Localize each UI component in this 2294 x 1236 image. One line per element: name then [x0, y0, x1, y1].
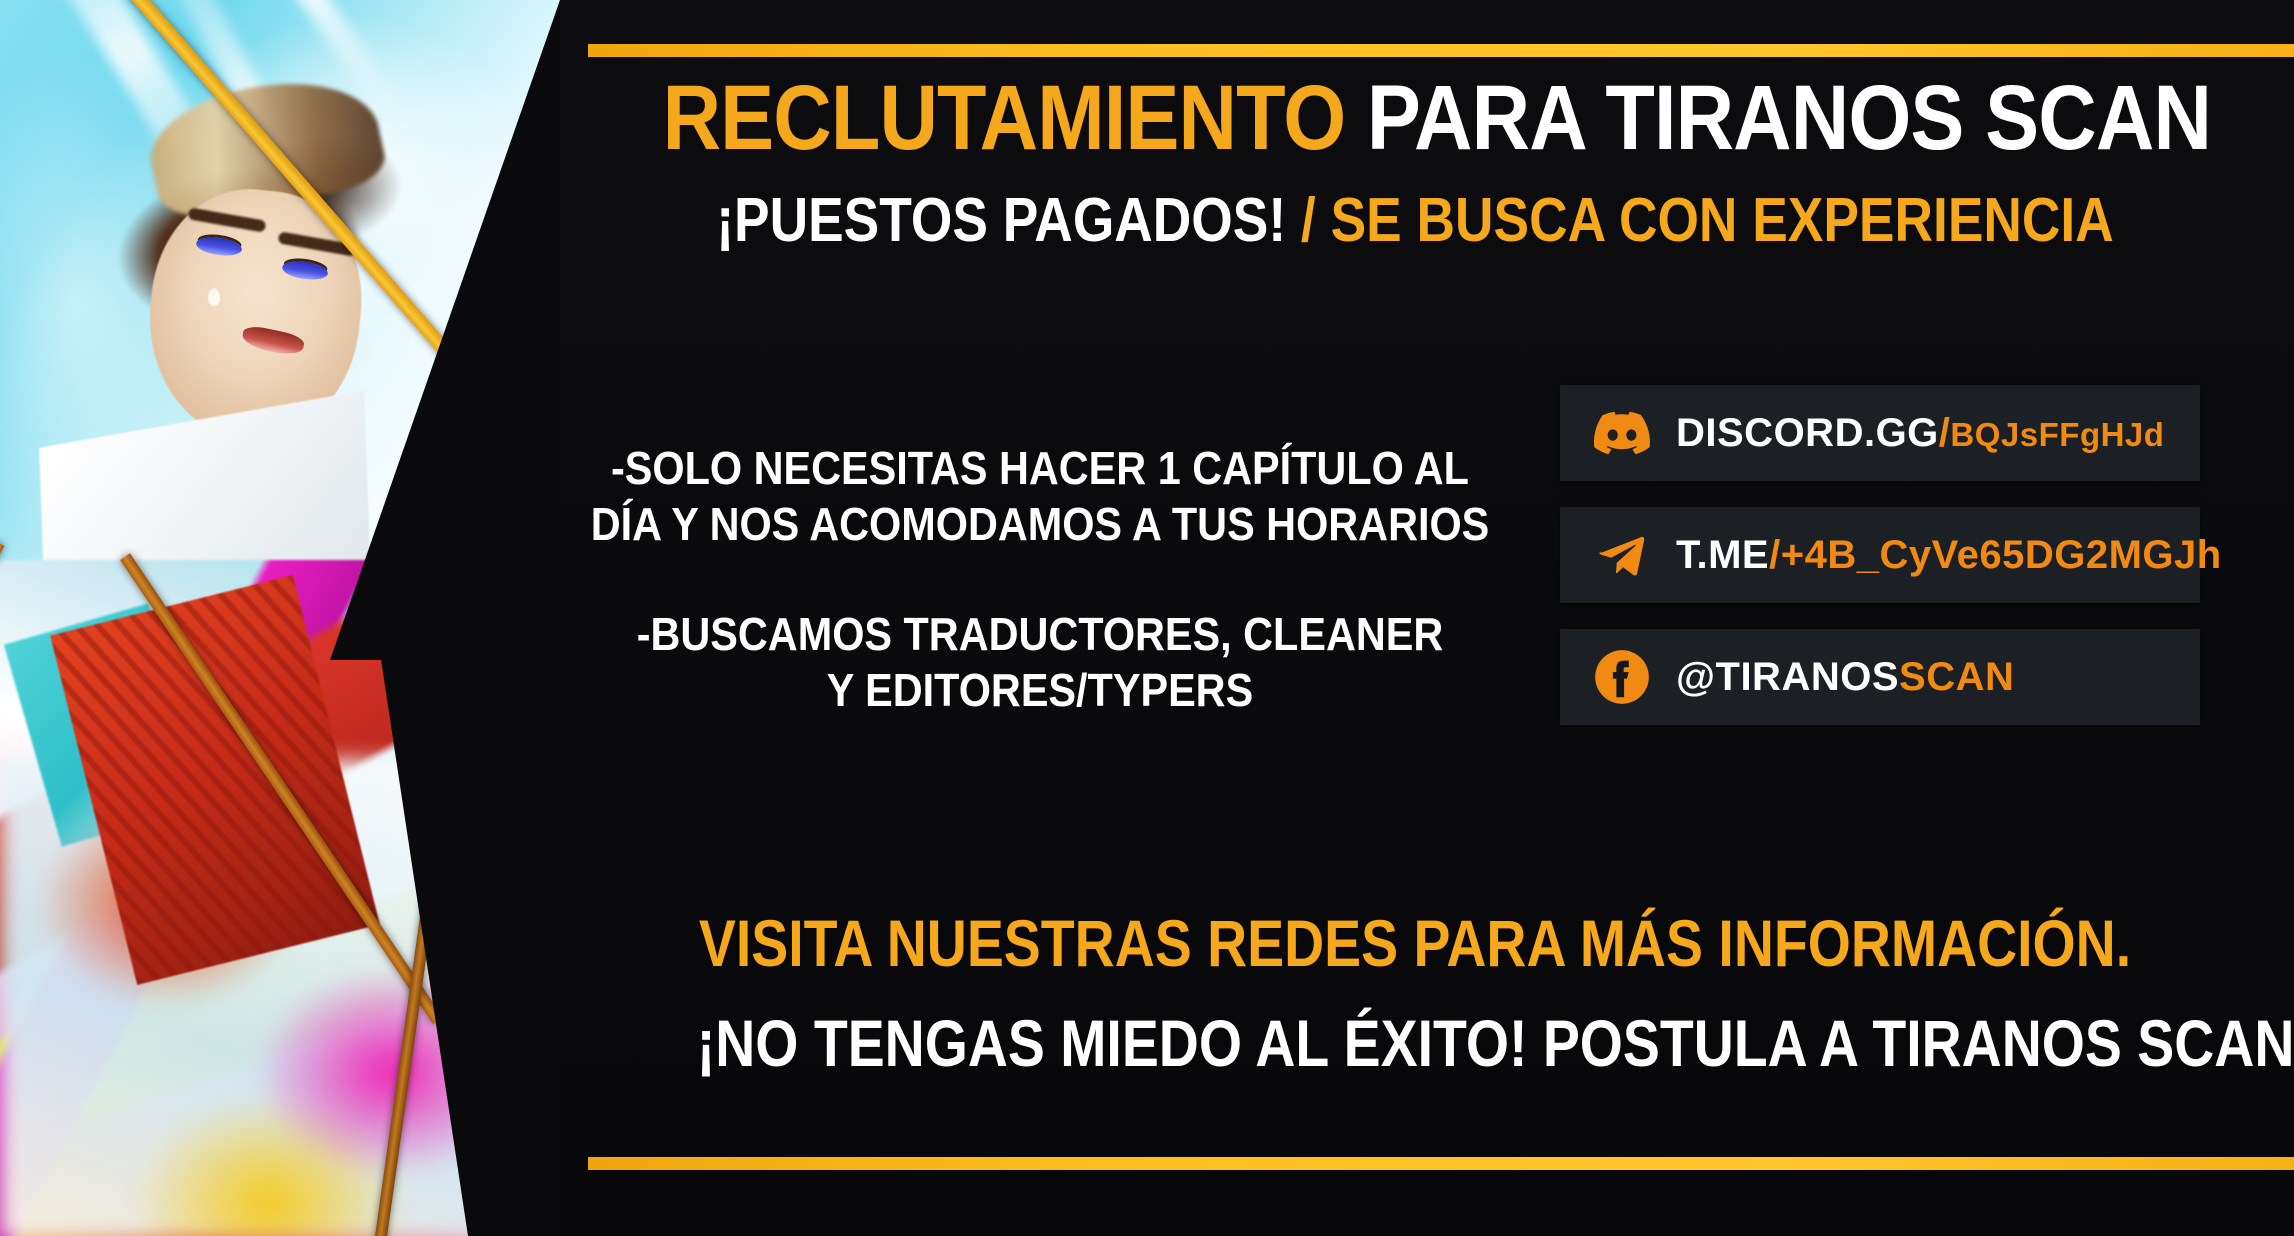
subtitle: ¡PUESTOS PAGADOS! / SE BUSCA CON EXPERIE… [680, 190, 2151, 252]
requirement-line-1: -BUSCAMOS TRADUCTORES, CLEANER [581, 606, 1499, 662]
character-artwork [0, 0, 560, 1236]
contact-facebook-label: @TIRANOSSCAN [1676, 655, 2014, 700]
requirement-line-1: -SOLO NECESITAS HACER 1 CAPÍTULO AL [581, 440, 1499, 496]
headline-highlight: RECLUTAMIENTO [663, 67, 1346, 169]
requirement-line-2: Y EDITORES/TYPERS [581, 662, 1499, 718]
contact-discord-label: DISCORD.GG/BQJsFFgHJd [1676, 411, 2164, 456]
contact-discord[interactable]: DISCORD.GG/BQJsFFgHJd [1560, 385, 2200, 481]
telegram-slash: / [1769, 533, 1781, 577]
discord-icon [1594, 405, 1650, 461]
recruitment-banner: RECLUTAMIENTO PARA TIRANOS SCAN ¡PUESTOS… [0, 0, 2294, 1236]
facebook-handle-suffix: SCAN [1899, 655, 2014, 699]
telegram-domain: T.ME [1676, 533, 1769, 577]
gold-rule-bottom [588, 1157, 2294, 1170]
requirement-item: -BUSCAMOS TRADUCTORES, CLEANER Y EDITORE… [581, 606, 1499, 718]
requirement-item: -SOLO NECESITAS HACER 1 CAPÍTULO AL DÍA … [581, 440, 1499, 552]
page-title: RECLUTAMIENTO PARA TIRANOS SCAN [663, 72, 2168, 164]
cta-line-1: VISITA NUESTRAS REDES PARA MÁS INFORMACI… [697, 905, 2133, 983]
headline-rest: PARA TIRANOS SCAN [1367, 67, 2211, 169]
facebook-handle: @TIRANOS [1676, 655, 1899, 699]
requirement-line-2: DÍA Y NOS ACOMODAMOS A TUS HORARIOS [581, 496, 1499, 552]
gold-rule-top [588, 44, 2294, 57]
call-to-action: VISITA NUESTRAS REDES PARA MÁS INFORMACI… [697, 905, 2133, 1083]
telegram-icon [1594, 527, 1650, 583]
content-area: RECLUTAMIENTO PARA TIRANOS SCAN ¡PUESTOS… [560, 0, 2294, 1236]
subtitle-paid: ¡PUESTOS PAGADOS! [716, 186, 1286, 255]
discord-domain: DISCORD.GG [1676, 411, 1939, 455]
discord-invite-code: BQJsFFgHJd [1950, 416, 2164, 453]
contact-telegram-label: T.ME/+4B_CyVe65DG2MGJh [1676, 533, 2222, 578]
facebook-icon [1594, 649, 1650, 705]
discord-slash: / [1939, 411, 1951, 455]
subtitle-separator: / [1301, 186, 1316, 255]
contact-facebook[interactable]: @TIRANOSSCAN [1560, 629, 2200, 725]
requirements-list: -SOLO NECESITAS HACER 1 CAPÍTULO AL DÍA … [581, 440, 1499, 718]
contact-telegram[interactable]: T.ME/+4B_CyVe65DG2MGJh [1560, 507, 2200, 603]
contact-links: DISCORD.GG/BQJsFFgHJd T.ME/+4B_CyVe65DG2… [1560, 385, 2200, 751]
telegram-invite-code: +4B_CyVe65DG2MGJh [1781, 533, 2222, 577]
character-sweat-drop [208, 288, 220, 306]
cta-line-2: ¡NO TENGAS MIEDO AL ÉXITO! POSTULA A TIR… [697, 1005, 2133, 1083]
subtitle-experience: SE BUSCA CON EXPERIENCIA [1331, 186, 2114, 255]
